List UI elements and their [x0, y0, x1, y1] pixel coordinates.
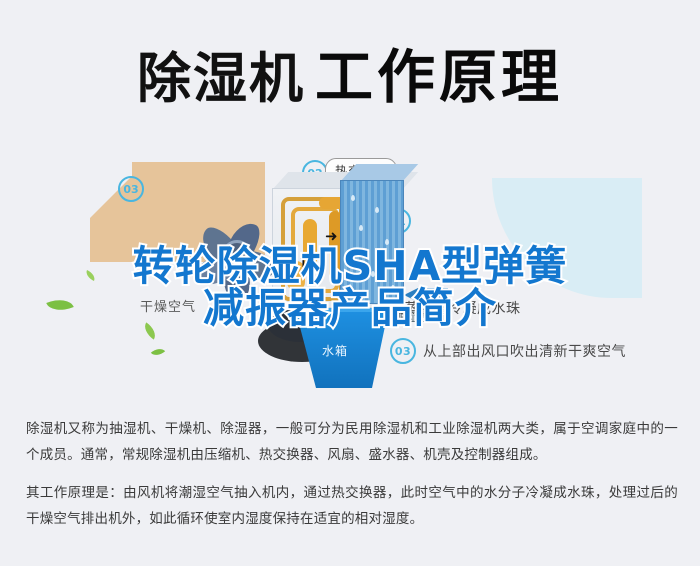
leaf-icon	[84, 270, 97, 281]
page-title-part-2: 工作原理	[315, 43, 563, 111]
flow-arrow-right-icon: ➜	[325, 229, 338, 244]
leaf-icon	[46, 294, 73, 316]
body-copy: 除湿机又称为抽湿机、干燥机、除湿器，一般可分为民用除湿机和工业除湿机两大类，属于…	[26, 416, 678, 532]
water-droplet-icon	[385, 239, 389, 245]
water-droplet-icon	[391, 285, 395, 291]
body-paragraph-2: 其工作原理是：由风机将潮湿空气抽入机内，通过热交换器，此时空气中的水分子冷凝成水…	[26, 480, 678, 532]
leaf-icon	[151, 345, 165, 359]
water-tank-label: 水箱	[322, 342, 348, 359]
caption-step-02-text: 过蒸发器冷凝成水珠	[390, 298, 521, 318]
flow-arrow-up-icon: ↑	[297, 255, 310, 270]
page-root: 除湿机工作原理 干燥空气 潮湿空气 03 02 01 热交换器	[0, 0, 700, 566]
water-droplet-icon	[371, 271, 375, 277]
humid-air-swoosh-fill	[492, 178, 642, 298]
water-droplet-icon	[351, 195, 355, 201]
water-droplet-icon	[375, 207, 379, 213]
page-title: 除湿机工作原理	[0, 30, 700, 114]
evaporator-fin-block	[340, 180, 404, 304]
water-droplet-icon	[359, 225, 363, 231]
fan-hub	[222, 240, 252, 270]
caption-step-03: 03 从上部出风口吹出清新干爽空气	[390, 338, 626, 364]
step-badge-03: 03	[118, 176, 144, 202]
water-droplet-icon	[349, 253, 353, 259]
fan-icon	[188, 202, 288, 306]
leaf-icon	[141, 322, 160, 339]
page-title-part-1: 除湿机	[137, 47, 305, 110]
caption-step-03-text: 从上部出风口吹出清新干爽空气	[423, 341, 626, 361]
caption-badge-03: 03	[390, 338, 416, 364]
caption-step-02: 过蒸发器冷凝成水珠	[390, 298, 521, 318]
body-paragraph-1: 除湿机又称为抽湿机、干燥机、除湿器，一般可分为民用除湿机和工业除湿机两大类，属于…	[26, 416, 678, 468]
working-principle-diagram: 干燥空气 潮湿空气 03 02 01 热交换器 ➜ ↑ ↓	[0, 120, 700, 410]
